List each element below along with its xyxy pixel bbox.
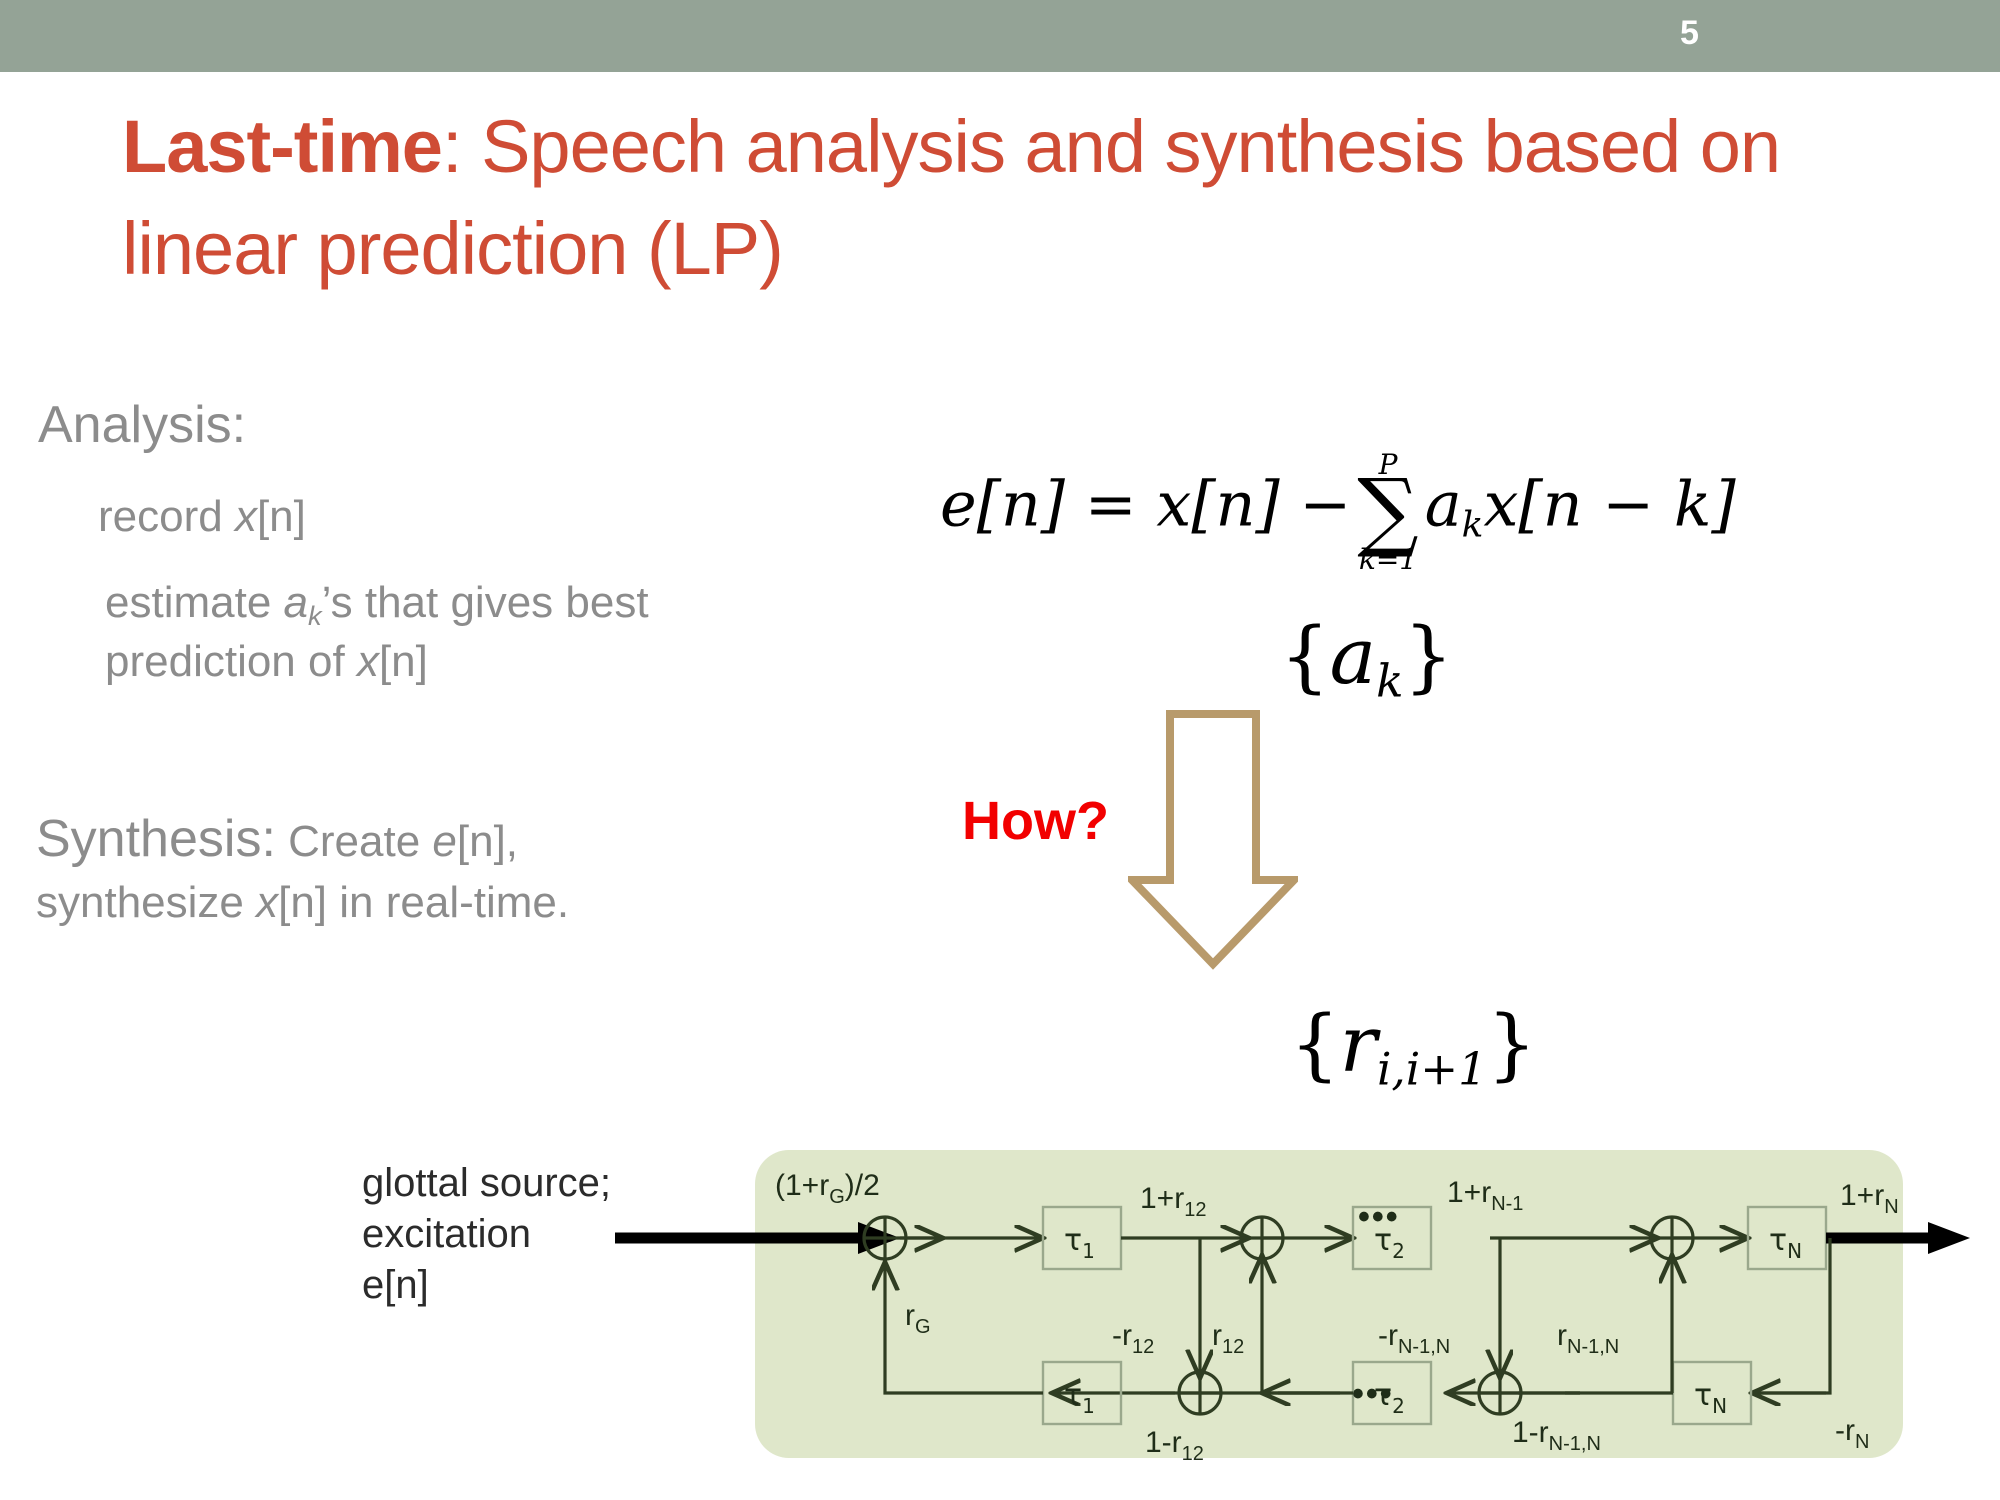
synthesis-var-e: e: [432, 817, 456, 866]
summation-lower-limit: k=1: [1357, 546, 1418, 574]
summation-symbol-group: P∑k=1: [1357, 451, 1418, 574]
diagram-caption-line1: glottal source;: [362, 1158, 611, 1209]
set-ak-body: a: [1330, 612, 1377, 702]
analysis-estimate-var2: x: [357, 637, 379, 686]
equation-term-x: x[n − k]: [1483, 468, 1735, 541]
sigma-icon: ∑: [1357, 475, 1418, 548]
diagram-caption-line3: e[n]: [362, 1260, 611, 1311]
analysis-record-var: x: [235, 492, 257, 541]
page-number: 5: [1680, 14, 1699, 53]
equation-lhs: e[n] = x[n] −: [940, 468, 1351, 541]
brace-close-ak: }: [1404, 612, 1454, 702]
set-r-sub: i,i+1: [1377, 1043, 1487, 1096]
lp-error-equation: e[n] = x[n] −P∑k=1akx[n − k]: [940, 448, 1736, 571]
synthesis-block: Synthesis: Create e[n], synthesize x[n] …: [36, 806, 736, 931]
header-bar: [0, 0, 2000, 72]
lattice-filter-panel: [755, 1150, 1903, 1458]
coefficient-set-ak: {ak}: [1280, 612, 1453, 708]
set-ak-sub: k: [1376, 655, 1403, 708]
reflection-coefficient-set: {ri,i+1}: [1290, 1000, 1537, 1096]
synthesis-rest-a: Create: [276, 817, 433, 866]
equation-coeff-a: a: [1425, 468, 1462, 541]
how-question-label: How?: [962, 790, 1109, 852]
title-strong: Last-time: [122, 105, 442, 188]
brace-open-ak: {: [1280, 612, 1330, 702]
brace-close-r: }: [1487, 1000, 1537, 1090]
diagram-caption: glottal source; excitation e[n]: [362, 1158, 611, 1312]
analysis-estimate-suffix2: [n]: [379, 637, 428, 686]
analysis-heading: Analysis:: [38, 395, 246, 455]
analysis-record-line: record x[n]: [98, 492, 306, 542]
down-arrow-icon: [1128, 710, 1298, 970]
equation-coeff-a-sub: k: [1462, 504, 1484, 545]
analysis-estimate-line: estimate ak’s that gives best prediction…: [105, 575, 725, 690]
analysis-estimate-a: estimate: [105, 578, 284, 627]
analysis-record-suffix: [n]: [257, 492, 306, 541]
page-title: Last-time: Speech analysis and synthesis…: [122, 96, 1872, 300]
set-r-body: r: [1340, 1000, 1377, 1090]
synthesis-heading: Synthesis:: [36, 810, 276, 868]
analysis-record-prefix: record: [98, 492, 235, 541]
down-arrow-outline: [1132, 714, 1294, 964]
analysis-estimate-sub: k: [308, 600, 322, 631]
brace-open-r: {: [1290, 1000, 1340, 1090]
diagram-caption-line2: excitation: [362, 1209, 611, 1260]
synthesis-var-x: x: [256, 878, 278, 927]
synthesis-rest-c: [n] in real-time.: [278, 878, 569, 927]
analysis-estimate-var: a: [284, 578, 308, 627]
